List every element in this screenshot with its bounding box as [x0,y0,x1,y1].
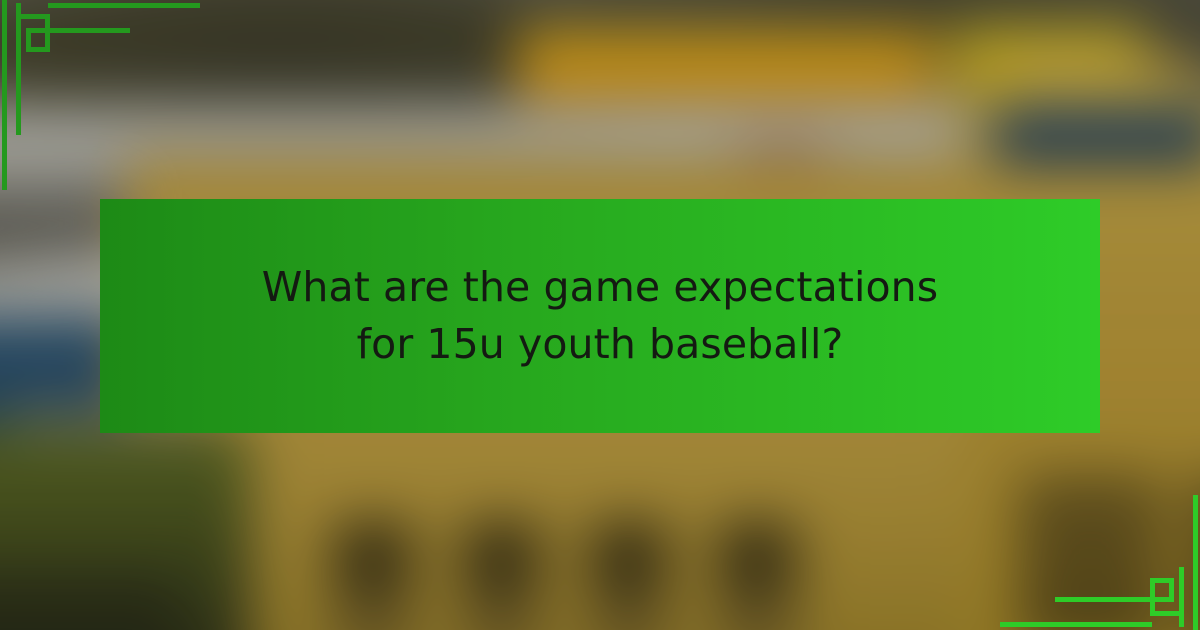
corner-line-tail-horizontal [1055,597,1155,602]
corner-line-outer-vertical [1193,495,1198,630]
corner-line-inner-horizontal [1150,611,1184,616]
corner-line-outer-horizontal [1000,622,1152,627]
share-card: What are the game expectations for 15u y… [0,0,1200,630]
corner-square-bottom [26,47,50,52]
corner-line-tail-horizontal [45,28,130,33]
corner-square-top [1150,578,1174,583]
headline-banner: What are the game expectations for 15u y… [100,199,1100,433]
corner-line-inner-vertical [1179,567,1184,627]
corner-line-outer-vertical [2,0,7,190]
corner-line-outer-horizontal [48,3,200,8]
page-title: What are the game expectations for 15u y… [240,259,960,372]
corner-line-inner-vertical [16,3,21,135]
